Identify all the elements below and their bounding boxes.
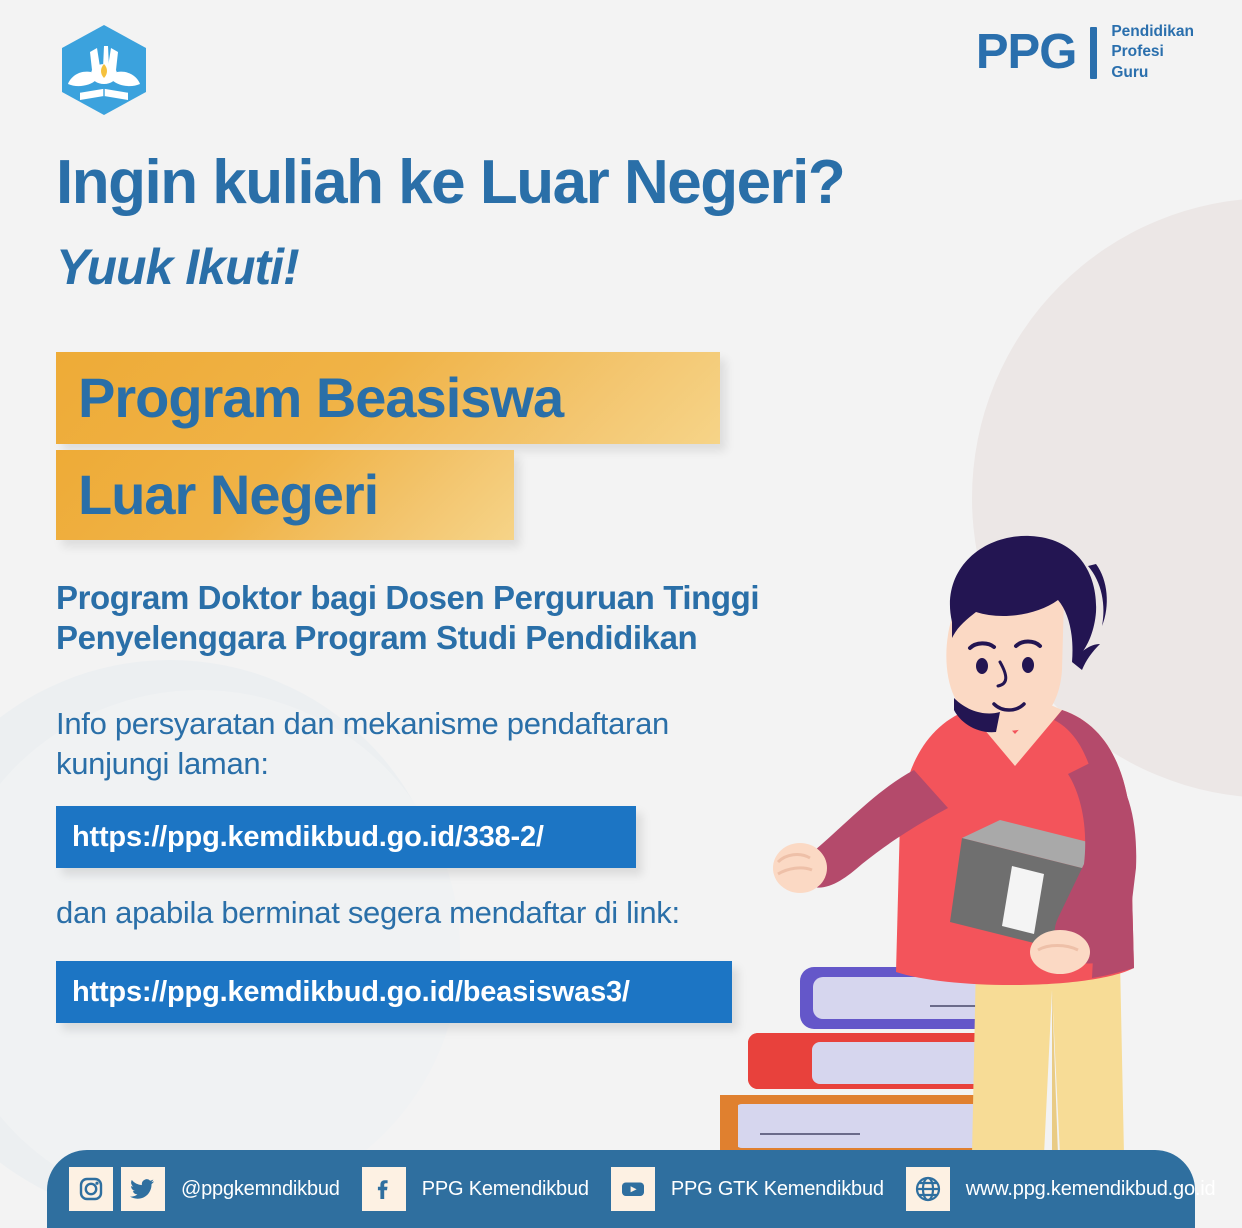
- footer-label-twitter: @ppgkemndikbud: [181, 1178, 340, 1201]
- student-illustration: [700, 520, 1242, 1180]
- kemdikbud-logo: TUT WURI HANDAYANI: [50, 22, 158, 118]
- info-paragraph-line1: Info persyaratan dan mekanisme pendaftar…: [56, 704, 669, 744]
- footer-label-facebook: PPG Kemendikbud: [422, 1178, 589, 1201]
- footer-item-instagram[interactable]: [69, 1167, 121, 1211]
- program-description: Program Doktor bagi Dosen Perguruan Ting…: [56, 578, 759, 659]
- footer-item-facebook[interactable]: PPG Kemendikbud: [362, 1167, 611, 1211]
- logo-motto-text: TUT WURI HANDAYANI: [63, 22, 146, 24]
- program-description-line2: Penyelenggara Program Studi Pendidikan: [56, 618, 759, 658]
- register-url-text: https://ppg.kemdikbud.go.id/beasiswas3/: [72, 976, 630, 1009]
- ppg-tagline: Pendidikan Profesi Guru: [1111, 22, 1194, 83]
- footer-item-twitter[interactable]: @ppgkemndikbud: [121, 1167, 362, 1211]
- character-head: [946, 536, 1106, 732]
- ppg-wordmark: PPG: [976, 28, 1076, 77]
- youtube-icon[interactable]: [611, 1167, 655, 1211]
- register-paragraph: dan apabila berminat segera mendaftar di…: [56, 893, 680, 933]
- highlight-block-line1: Program Beasiswa: [56, 352, 720, 444]
- info-paragraph-line2: kunjungi laman:: [56, 744, 669, 784]
- highlight-text-line1: Program Beasiswa: [78, 370, 563, 426]
- instagram-icon[interactable]: [69, 1167, 113, 1211]
- footer-item-website[interactable]: www.ppg.kemendikbud.go.id: [906, 1167, 1238, 1211]
- ppg-logo: PPG Pendidikan Profesi Guru: [976, 22, 1194, 83]
- register-url-button[interactable]: https://ppg.kemdikbud.go.id/beasiswas3/: [56, 961, 732, 1023]
- info-url-text: https://ppg.kemdikbud.go.id/338-2/: [72, 821, 544, 854]
- register-paragraph-line1: dan apabila berminat segera mendaftar di…: [56, 893, 680, 933]
- facebook-icon[interactable]: [362, 1167, 406, 1211]
- footer-label-youtube: PPG GTK Kemendikbud: [671, 1178, 884, 1201]
- highlight-text-line2: Luar Negeri: [78, 467, 378, 523]
- program-description-line1: Program Doktor bagi Dosen Perguruan Ting…: [56, 578, 759, 618]
- globe-icon[interactable]: [906, 1167, 950, 1211]
- ppg-tagline-line3: Guru: [1111, 63, 1194, 83]
- info-paragraph: Info persyaratan dan mekanisme pendaftar…: [56, 704, 669, 785]
- footer-item-youtube[interactable]: PPG GTK Kemendikbud: [611, 1167, 906, 1211]
- subheadline: Yuuk Ikuti!: [56, 242, 299, 292]
- footer-bar: @ppgkemndikbud PPG Kemendikbud PPG GTK K…: [47, 1150, 1195, 1228]
- ppg-divider: [1090, 27, 1097, 79]
- footer-label-website: www.ppg.kemendikbud.go.id: [966, 1178, 1216, 1201]
- character-legs: [972, 960, 1124, 1155]
- poster-canvas: TUT WURI HANDAYANI PPG Pendidikan Profes…: [0, 0, 1242, 1228]
- headline: Ingin kuliah ke Luar Negeri?: [56, 152, 844, 214]
- ppg-tagline-line1: Pendidikan: [1111, 22, 1194, 42]
- ppg-tagline-line2: Profesi: [1111, 42, 1194, 62]
- highlight-block-line2: Luar Negeri: [56, 450, 514, 540]
- twitter-icon[interactable]: [121, 1167, 165, 1211]
- info-url-button[interactable]: https://ppg.kemdikbud.go.id/338-2/: [56, 806, 636, 868]
